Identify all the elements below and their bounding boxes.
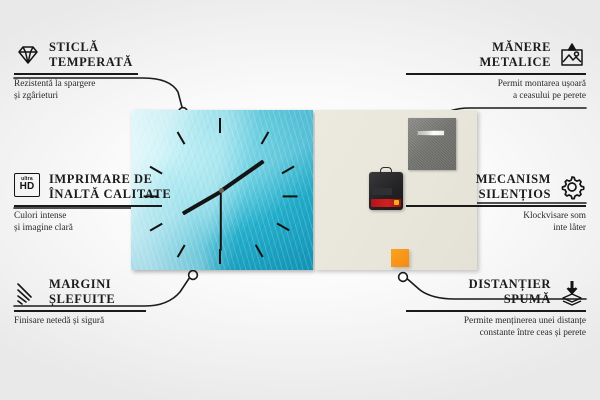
callout-rule bbox=[14, 310, 146, 311]
ultra-hd-icon-big-text: HD bbox=[20, 182, 35, 192]
callout-subtitle: Finisare netedă și sigură bbox=[14, 315, 194, 327]
callout-metal-handles: MĂNERE METALICE Permit montarea ușoară a… bbox=[406, 40, 586, 102]
callout-header: ultra HD IMPRIMARE DE ÎNALTĂ CALITATE bbox=[14, 172, 194, 201]
callout-header: STICLĂ TEMPERATĂ bbox=[14, 40, 194, 69]
callout-rule bbox=[14, 205, 162, 206]
clock-mechanism bbox=[369, 172, 403, 210]
callout-subtitle: Culori intense și imagine clară bbox=[14, 210, 194, 235]
ultra-hd-icon: ultra HD bbox=[14, 173, 42, 201]
callout-title: DISTANȚIER SPUMĂ bbox=[469, 277, 551, 306]
callout-header: MĂNERE METALICE bbox=[406, 40, 586, 69]
callout-title: MĂNERE METALICE bbox=[479, 40, 551, 69]
callout-polished-edges: MARGINI ȘLEFUITE Finisare netedă și sigu… bbox=[14, 277, 194, 327]
clock-tick bbox=[281, 166, 294, 175]
callout-subtitle: Permit montarea ușoară a ceasului pe per… bbox=[406, 78, 586, 103]
callout-foam-spacer: DISTANȚIER SPUMĂ Permite menținerea unei… bbox=[406, 277, 586, 339]
callout-header: MECANISM SILENȚIOS bbox=[406, 172, 586, 201]
callout-subtitle: Permite menținerea unei distanțe constan… bbox=[406, 315, 586, 340]
callout-subtitle: Rezistentă la spargere și zgârieturi bbox=[14, 78, 194, 103]
callout-header: MARGINI ȘLEFUITE bbox=[14, 277, 194, 306]
clock-second-hand bbox=[220, 191, 222, 251]
down-arrow-layers-icon bbox=[558, 278, 586, 306]
hanger-slot bbox=[417, 130, 445, 136]
callout-rule bbox=[406, 205, 586, 206]
diamond-icon bbox=[14, 41, 42, 69]
battery bbox=[371, 199, 401, 207]
clock-tick bbox=[177, 131, 186, 144]
callout-subtitle: Klockvisare som inte låter bbox=[406, 210, 586, 235]
clock-hour-hand bbox=[220, 160, 265, 193]
callout-tempered-glass: STICLĂ TEMPERATĂ Rezistentă la spargere … bbox=[14, 40, 194, 102]
gear-icon bbox=[558, 173, 586, 201]
callout-rule bbox=[406, 73, 586, 74]
clock-tick bbox=[219, 249, 221, 264]
infographic-canvas: STICLĂ TEMPERATĂ Rezistentă la spargere … bbox=[0, 0, 600, 400]
clock-tick bbox=[177, 244, 186, 257]
callout-title: STICLĂ TEMPERATĂ bbox=[49, 40, 133, 69]
clock-tick bbox=[276, 223, 289, 232]
foam-spacer bbox=[391, 249, 409, 267]
callout-high-quality-print: ultra HD IMPRIMARE DE ÎNALTĂ CALITATE Cu… bbox=[14, 172, 194, 234]
callout-rule bbox=[406, 310, 586, 311]
clock-hand-cap bbox=[219, 188, 224, 193]
clock-tick bbox=[219, 118, 221, 133]
callout-title: MECANISM SILENȚIOS bbox=[476, 172, 551, 201]
mechanism-label-plate bbox=[372, 188, 392, 195]
callout-header: DISTANȚIER SPUMĂ bbox=[406, 277, 586, 306]
metal-hanger-plate bbox=[408, 118, 456, 170]
callout-rule bbox=[14, 73, 138, 74]
mechanism-hanging-loop bbox=[380, 167, 392, 175]
clock-tick bbox=[144, 195, 159, 197]
callout-silent-mechanism: MECANISM SILENȚIOS Klockvisare som inte … bbox=[406, 172, 586, 234]
clock-tick bbox=[255, 244, 264, 257]
clock-tick bbox=[261, 131, 270, 144]
picture-hanger-icon bbox=[558, 41, 586, 69]
polished-edges-icon bbox=[14, 278, 42, 306]
callout-title: MARGINI ȘLEFUITE bbox=[49, 277, 115, 306]
clock-tick bbox=[283, 195, 298, 197]
